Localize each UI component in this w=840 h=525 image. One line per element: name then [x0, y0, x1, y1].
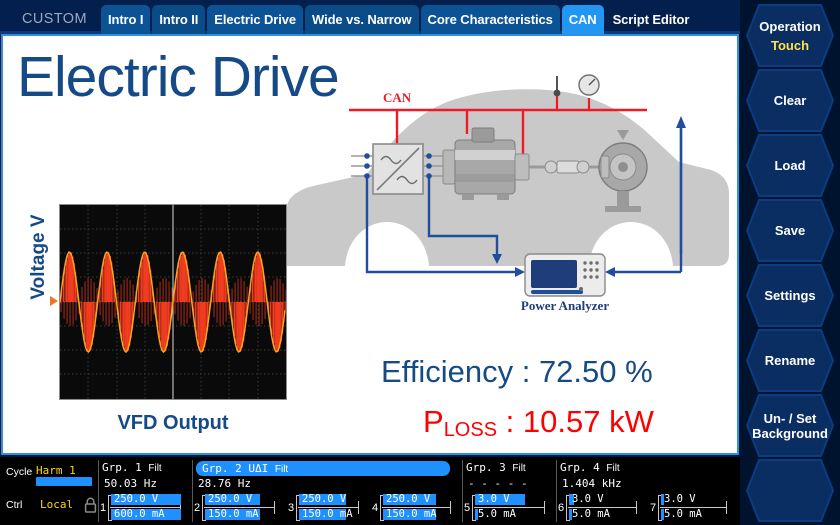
oscilloscope: Voltage V — [15, 176, 305, 446]
side-button-label: Settings — [764, 288, 815, 303]
side-button-sublabel: Touch — [771, 38, 809, 53]
channel-voltage-row: 250.0 V — [111, 493, 181, 506]
status-divider-2 — [192, 460, 193, 522]
side-button-label: Rename — [765, 353, 816, 368]
group-mode: UΔI — [248, 462, 268, 475]
efficiency-label: Efficiency : — [381, 354, 539, 389]
application-window: CUSTOM Intro IIntro IIElectric DriveWide… — [0, 0, 840, 525]
trigger-marker-icon — [50, 296, 58, 306]
scope-waveform — [60, 205, 286, 399]
side-button-label: Operation — [759, 19, 820, 34]
side-button-save[interactable]: Save — [746, 199, 834, 262]
channel-voltage-row: 250.0 V — [299, 493, 359, 506]
tab-bar: CUSTOM Intro IIntro IIElectric DriveWide… — [0, 0, 740, 34]
channel-number: 3 — [288, 502, 294, 514]
channel-number: 1 — [100, 502, 106, 514]
channel-6[interactable]: 63.0 V5.0 mA — [558, 493, 644, 523]
channel-current-value: 150.0 mA — [386, 508, 437, 520]
scope-display[interactable] — [59, 204, 287, 400]
channel-voltage-value: 250.0 V — [114, 493, 158, 505]
channel-number: 5 — [464, 502, 470, 514]
ploss-separator: : — [497, 404, 523, 439]
channel-2[interactable]: 2250.0 V150.0 mA — [194, 493, 282, 523]
tab-core-characteristics[interactable]: Core Characteristics — [421, 5, 560, 34]
side-button-un-set-background[interactable]: Un- / SetBackground — [746, 394, 834, 457]
side-button-label: Save — [775, 223, 805, 238]
channel-current-row: 150.0 mA — [205, 508, 275, 521]
channel-1[interactable]: 1250.0 V600.0 mA — [100, 493, 188, 523]
side-button-load[interactable]: Load — [746, 134, 834, 197]
power-loss-readout: PLOSS : 10.57 kW — [423, 404, 654, 440]
channel-current-row: 5.0 mA — [569, 508, 637, 521]
group-frequency: 28.76 Hz — [198, 477, 251, 490]
cycle-bar — [36, 477, 92, 486]
channel-current-value: 5.0 mA — [572, 508, 610, 520]
group-filt: Filt — [275, 464, 288, 475]
channel-number: 7 — [650, 502, 656, 514]
channel-voltage-row: 250.0 V — [383, 493, 451, 506]
ctrl-label: Ctrl — [6, 499, 22, 511]
channel-current-value: 150.0 mA — [302, 508, 353, 520]
channel-current-row: 150.0 mA — [383, 508, 451, 521]
channel-number: 4 — [372, 502, 378, 514]
front-wheel-arch — [347, 228, 427, 308]
side-button-inner — [748, 6, 832, 65]
group-filt: Filt — [606, 463, 619, 474]
side-button-settings[interactable]: Settings — [746, 264, 834, 327]
scope-y-axis-label: Voltage V — [28, 197, 50, 317]
group-name: Grp. 3 — [466, 461, 506, 474]
tab-wide-vs-narrow[interactable]: Wide vs. Narrow — [305, 5, 419, 34]
side-button-operation[interactable]: OperationTouch — [746, 4, 834, 67]
side-button-inner — [748, 461, 832, 520]
group-frequency: 1.404 kHz — [562, 477, 622, 490]
channel-7[interactable]: 73.0 V5.0 mA — [650, 493, 734, 523]
sensor-bulb-icon — [554, 90, 561, 97]
channel-voltage-value: 250.0 V — [302, 493, 346, 505]
group-frequency: 50.03 Hz — [104, 477, 157, 490]
channel-voltage-row: 250.0 V — [205, 493, 275, 506]
cycle-label: Cycle — [6, 466, 32, 478]
status-bar: Cycle Harm 1 Ctrl Local Grp. 1 Filt50.03… — [0, 457, 740, 525]
channel-4[interactable]: 4250.0 V150.0 mA — [372, 493, 458, 523]
powertrain-diagram: CAN — [279, 58, 731, 348]
efficiency-value: 72.50 % — [539, 354, 653, 389]
tab-script-editor[interactable]: Script Editor — [606, 5, 697, 34]
efficiency-readout: Efficiency : 72.50 % — [381, 354, 653, 390]
channel-voltage-row: 3.0 V — [475, 493, 545, 506]
channel-voltage-value: 250.0 V — [386, 493, 430, 505]
side-button-panel: OperationTouchClearLoadSaveSettingsRenam… — [740, 0, 840, 525]
group-filt: Filt — [148, 463, 161, 474]
side-button-empty-7[interactable] — [746, 459, 834, 522]
channel-5[interactable]: 53.0 V5.0 mA — [464, 493, 552, 523]
channel-3[interactable]: 3250.0 V150.0 mA — [288, 493, 366, 523]
status-divider-3 — [462, 460, 463, 522]
motor-terminal-box — [472, 128, 494, 142]
channel-voltage-value: 3.0 V — [478, 493, 510, 505]
group-filt: Filt — [512, 463, 525, 474]
ploss-label: P — [423, 404, 444, 439]
channel-voltage-row: 3.0 V — [661, 493, 727, 506]
channel-current-row: 600.0 mA — [111, 508, 181, 521]
channel-current-value: 150.0 mA — [208, 508, 259, 520]
power-analyzer-label: Power Analyzer — [521, 298, 609, 313]
group-header: Grp. 2 UΔI Filt — [196, 461, 450, 476]
group-name: Grp. 4 — [560, 461, 600, 474]
group-header: Grp. 1 Filt — [102, 461, 162, 474]
side-button-label: Clear — [774, 93, 807, 108]
channel-voltage-row: 3.0 V — [569, 493, 637, 506]
channel-current-value: 5.0 mA — [478, 508, 516, 520]
ctrl-value[interactable]: Local — [40, 498, 73, 511]
tab-intro-i[interactable]: Intro I — [101, 5, 150, 34]
scope-caption: VFD Output — [59, 412, 287, 435]
channel-number: 2 — [194, 502, 200, 514]
status-divider-1 — [98, 460, 99, 522]
status-cycle-block: Cycle Harm 1 Ctrl Local — [4, 457, 98, 525]
arrow-to-analyzer-left — [515, 267, 525, 277]
lock-icon — [84, 497, 97, 513]
tab-can[interactable]: CAN — [562, 5, 604, 34]
group-name: Grp. 2 — [202, 462, 242, 475]
status-divider-4 — [556, 460, 557, 522]
channel-voltage-value: 250.0 V — [208, 493, 252, 505]
tab-electric-drive[interactable]: Electric Drive — [207, 5, 303, 34]
power-analyzer-device — [525, 254, 605, 296]
channel-current-row: 5.0 mA — [661, 508, 727, 521]
group-header: Grp. 3 Filt — [466, 461, 526, 474]
ploss-subscript: LOSS — [444, 419, 497, 441]
can-label: CAN — [383, 90, 412, 105]
cycle-value: Harm 1 — [36, 464, 76, 477]
channel-current-value: 600.0 mA — [114, 508, 165, 520]
custom-label: CUSTOM — [0, 4, 101, 34]
tab-intro-ii[interactable]: Intro II — [152, 5, 205, 34]
side-button-clear[interactable]: Clear — [746, 69, 834, 132]
group-frequency: - - - - - — [468, 477, 528, 490]
side-button-label: Load — [774, 158, 805, 173]
content-panel: Electric Drive CAN — [1, 34, 739, 455]
arrow-to-can — [676, 116, 686, 128]
channel-current-value: 5.0 mA — [664, 508, 702, 520]
side-button-label: Un- / SetBackground — [752, 411, 828, 441]
channel-voltage-value: 3.0 V — [664, 493, 696, 505]
ploss-value: 10.57 kW — [523, 404, 654, 439]
channel-current-row: 150.0 mA — [299, 508, 359, 521]
channel-voltage-value: 3.0 V — [572, 493, 604, 505]
channel-current-row: 5.0 mA — [475, 508, 545, 521]
group-name: Grp. 1 — [102, 461, 142, 474]
channel-number: 6 — [558, 502, 564, 514]
side-button-rename[interactable]: Rename — [746, 329, 834, 392]
group-header: Grp. 4 Filt — [560, 461, 620, 474]
